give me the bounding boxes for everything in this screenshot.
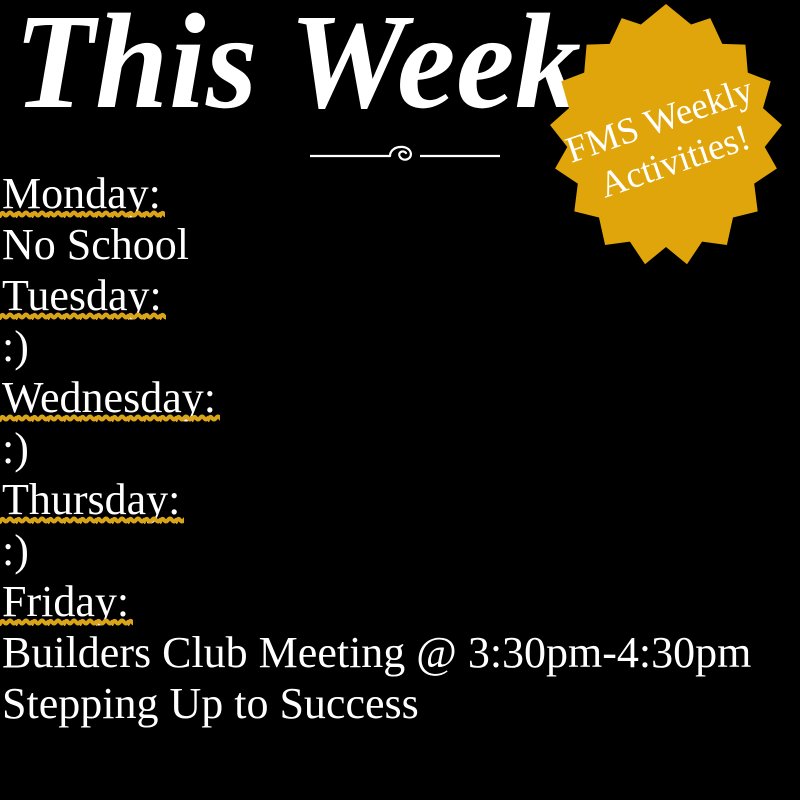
- schedule-day-label: Thursday:: [2, 474, 180, 525]
- schedule-event-label: :): [2, 423, 29, 474]
- schedule-day-label: Monday:: [2, 168, 161, 219]
- schedule-day-tuesday: Tuesday:: [2, 270, 762, 321]
- schedule-day-label: Friday:: [2, 576, 129, 627]
- schedule-event-label: :): [2, 321, 29, 372]
- page-title: This Week: [14, 0, 581, 130]
- schedule-event-label: Builders Club Meeting @ 3:30pm-4:30pm: [2, 627, 751, 678]
- schedule-event-label: No School: [2, 219, 189, 270]
- divider-ornament: [310, 140, 500, 170]
- schedule-day-label: Tuesday:: [2, 270, 162, 321]
- schedule-day-wednesday: Wednesday:: [2, 372, 762, 423]
- schedule-event-monday: No School: [2, 219, 762, 270]
- schedule-event-tuesday: :): [2, 321, 762, 372]
- schedule-event-label: :): [2, 525, 29, 576]
- weekly-schedule-list: Monday: No School Tuesday: :) Wednesday:…: [2, 168, 762, 729]
- schedule-event-friday-2: Stepping Up to Success: [2, 678, 762, 729]
- schedule-day-monday: Monday:: [2, 168, 762, 219]
- schedule-event-label: Stepping Up to Success: [2, 678, 419, 729]
- schedule-day-label: Wednesday:: [2, 372, 216, 423]
- schedule-event-friday-1: Builders Club Meeting @ 3:30pm-4:30pm: [2, 627, 762, 678]
- poster-canvas: This Week FMS Weekly Activities! Monday:…: [0, 0, 800, 800]
- schedule-day-friday: Friday:: [2, 576, 762, 627]
- schedule-day-thursday: Thursday:: [2, 474, 762, 525]
- schedule-event-thursday: :): [2, 525, 762, 576]
- schedule-event-wednesday: :): [2, 423, 762, 474]
